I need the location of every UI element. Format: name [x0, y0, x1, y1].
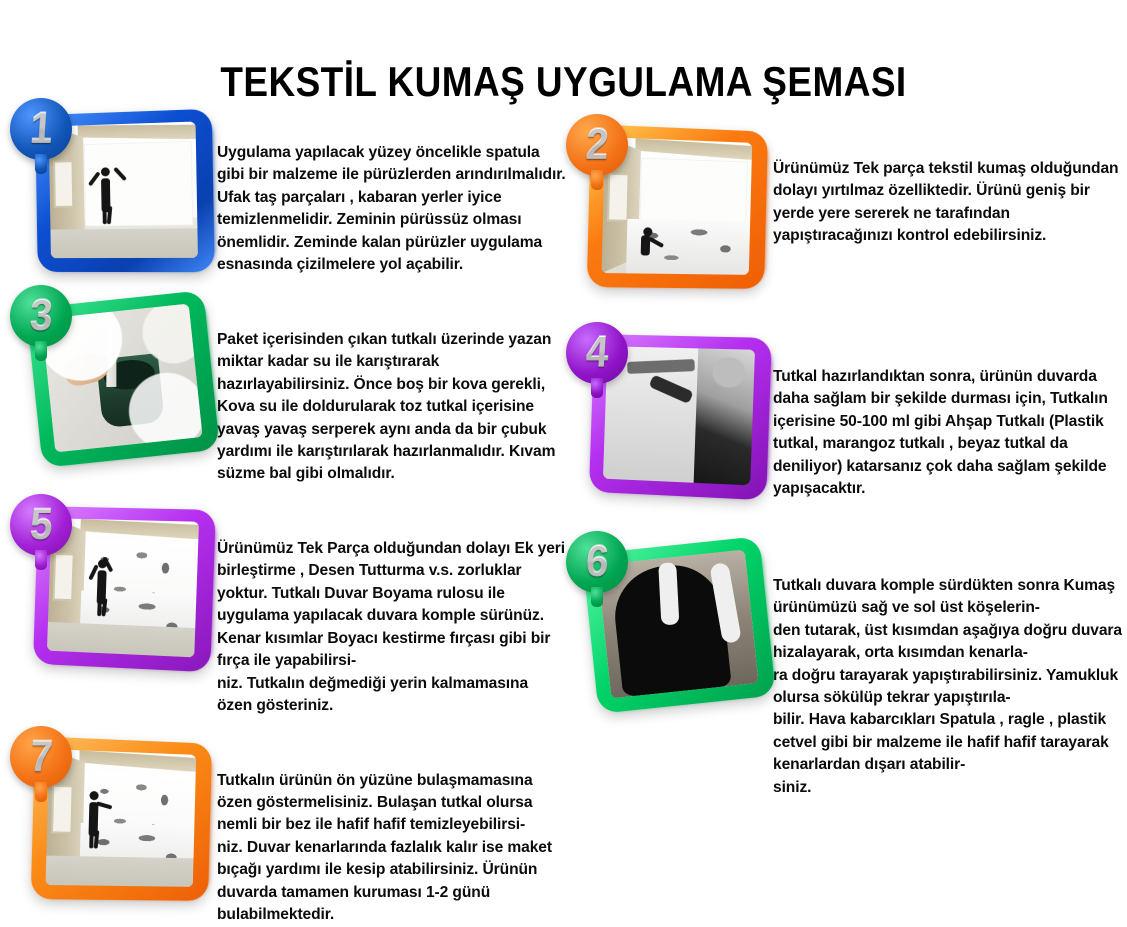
- step-card-slot-5: 5: [12, 508, 217, 668]
- step-number-2: 2: [582, 123, 611, 167]
- scene-apply-wall: [47, 518, 199, 657]
- step-badge-5: 5: [10, 494, 72, 556]
- step-item-1: 1 Uygulama yapılacak yüzey öncelikle spa…: [12, 112, 567, 277]
- steps-column-left: 1 Uygulama yapılacak yüzey öncelikle spa…: [12, 112, 567, 927]
- step-text-4: Tutkal hazırlandıktan sonra, ürünün duva…: [773, 336, 1123, 501]
- step-badge-3: 3: [10, 285, 72, 347]
- step-number-7: 7: [26, 735, 55, 779]
- step-badge-1: 1: [10, 98, 72, 160]
- step-number-3: 3: [26, 294, 55, 338]
- step-badge-7: 7: [10, 726, 72, 788]
- step-item-6: 6 Tutkalı duvara komple sürdükten sonra …: [568, 545, 1123, 800]
- step-text-7: Tutkalın ürünün ön yüzüne bulaşmamasına …: [217, 740, 567, 927]
- step-card-slot-3: 3: [12, 299, 217, 459]
- step-card-slot-4: 4: [568, 336, 773, 496]
- step-card-slot-6: 6: [568, 545, 773, 705]
- step-card-slot-7: 7: [12, 740, 217, 900]
- step-item-4: 4 Tutkal hazırlandıktan sonra, ürünün du…: [568, 336, 1123, 501]
- step-card-slot-2: 2: [568, 128, 773, 288]
- step-card-slot-1: 1: [12, 112, 217, 272]
- steps-column-right: 2 Ürünümüz Tek parça tekstil kumaş olduğ…: [568, 128, 1123, 799]
- step-item-5: 5 Ürünümüz Tek Parça olduğundan dolayı E…: [12, 508, 567, 718]
- step-text-2: Ürünümüz Tek parça tekstil kumaş olduğun…: [773, 128, 1123, 248]
- step-badge-2: 2: [566, 114, 628, 176]
- step-item-7: 7 Tutkalın ürünün ön yüzüne bulaşmamasın…: [12, 740, 567, 927]
- step-item-2: 2 Ürünümüz Tek parça tekstil kumaş olduğ…: [568, 128, 1123, 288]
- card-photo-1: [49, 122, 198, 259]
- page-title: TEKSTİL KUMAŞ UYGULAMA ŞEMASI: [68, 58, 1060, 106]
- step-text-5: Ürünümüz Tek Parça olduğundan dolayı Ek …: [217, 508, 567, 718]
- step-text-1: Uygulama yapılacak yüzey öncelikle spatu…: [217, 112, 567, 277]
- step-badge-6: 6: [566, 531, 628, 593]
- step-number-5: 5: [26, 503, 55, 547]
- step-text-6: Tutkalı duvara komple sürdükten sonra Ku…: [773, 545, 1123, 800]
- step-number-6: 6: [582, 540, 611, 584]
- card-photo-5: [47, 518, 199, 657]
- step-number-1: 1: [26, 107, 55, 151]
- card-photo-4: [603, 346, 755, 485]
- scene-room-spatula: [49, 122, 198, 259]
- step-text-3: Paket içerisinden çıkan tutkalı üzerinde…: [217, 299, 567, 486]
- step-badge-4: 4: [566, 322, 628, 384]
- step-item-3: 3 Paket içerisinden çıkan tutkalı üzerin…: [12, 299, 567, 486]
- step-number-4: 4: [582, 331, 611, 375]
- scene-roller-wall: [603, 346, 755, 485]
